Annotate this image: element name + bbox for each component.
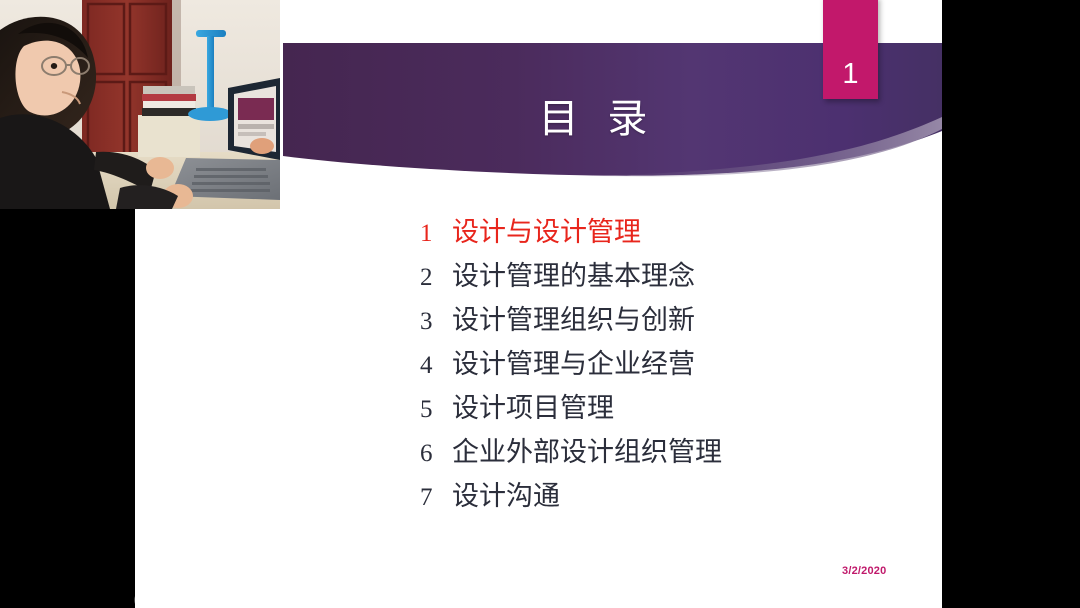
toc-item-3[interactable]: 3 设计管理组织与创新 — [420, 298, 920, 342]
toc-item-7[interactable]: 7 设计沟通 — [420, 474, 920, 518]
toc-item-index: 7 — [420, 484, 446, 512]
next-slide-icon[interactable] — [154, 592, 170, 608]
presentation-stage: 目 录 1 1 设计与设计管理 2 设计管理的基本理念 3 设计管理组织与创新 … — [0, 0, 1080, 608]
toc-item-index: 3 — [420, 308, 446, 336]
all-slides-icon[interactable] — [194, 592, 210, 608]
presenter-webcam[interactable] — [0, 0, 280, 209]
toc-item-index: 5 — [420, 396, 446, 424]
presenter-controls[interactable] — [134, 592, 250, 608]
toc-item-index: 1 — [420, 220, 446, 248]
toc-item-label: 设计与设计管理 — [452, 210, 641, 249]
toc-item-index: 6 — [420, 440, 446, 468]
toc-item-4[interactable]: 4 设计管理与企业经营 — [420, 342, 920, 386]
toc-item-1[interactable]: 1 设计与设计管理 — [420, 210, 920, 254]
toc-item-label: 设计项目管理 — [452, 386, 614, 425]
toc-item-label: 设计管理与企业经营 — [452, 342, 695, 381]
page-number-label: 1 — [823, 60, 878, 89]
previous-slide-icon[interactable] — [134, 592, 150, 608]
toc-item-2[interactable]: 2 设计管理的基本理念 — [420, 254, 920, 298]
zoom-icon[interactable] — [214, 592, 230, 608]
toc-item-label: 设计管理组织与创新 — [452, 298, 695, 337]
slide-date: 3/2/2020 — [842, 565, 886, 577]
table-of-contents: 1 设计与设计管理 2 设计管理的基本理念 3 设计管理组织与创新 4 设计管理… — [420, 210, 920, 518]
page-number-tab: 1 — [823, 0, 878, 99]
toc-item-label: 设计沟通 — [452, 474, 560, 513]
toc-item-index: 2 — [420, 264, 446, 292]
pen-tool-icon[interactable] — [174, 592, 190, 608]
toc-item-label: 设计管理的基本理念 — [452, 254, 695, 293]
toc-item-index: 4 — [420, 352, 446, 380]
toc-item-5[interactable]: 5 设计项目管理 — [420, 386, 920, 430]
toc-item-6[interactable]: 6 企业外部设计组织管理 — [420, 430, 920, 474]
toc-item-label: 企业外部设计组织管理 — [452, 430, 722, 469]
more-options-icon[interactable] — [234, 592, 250, 608]
